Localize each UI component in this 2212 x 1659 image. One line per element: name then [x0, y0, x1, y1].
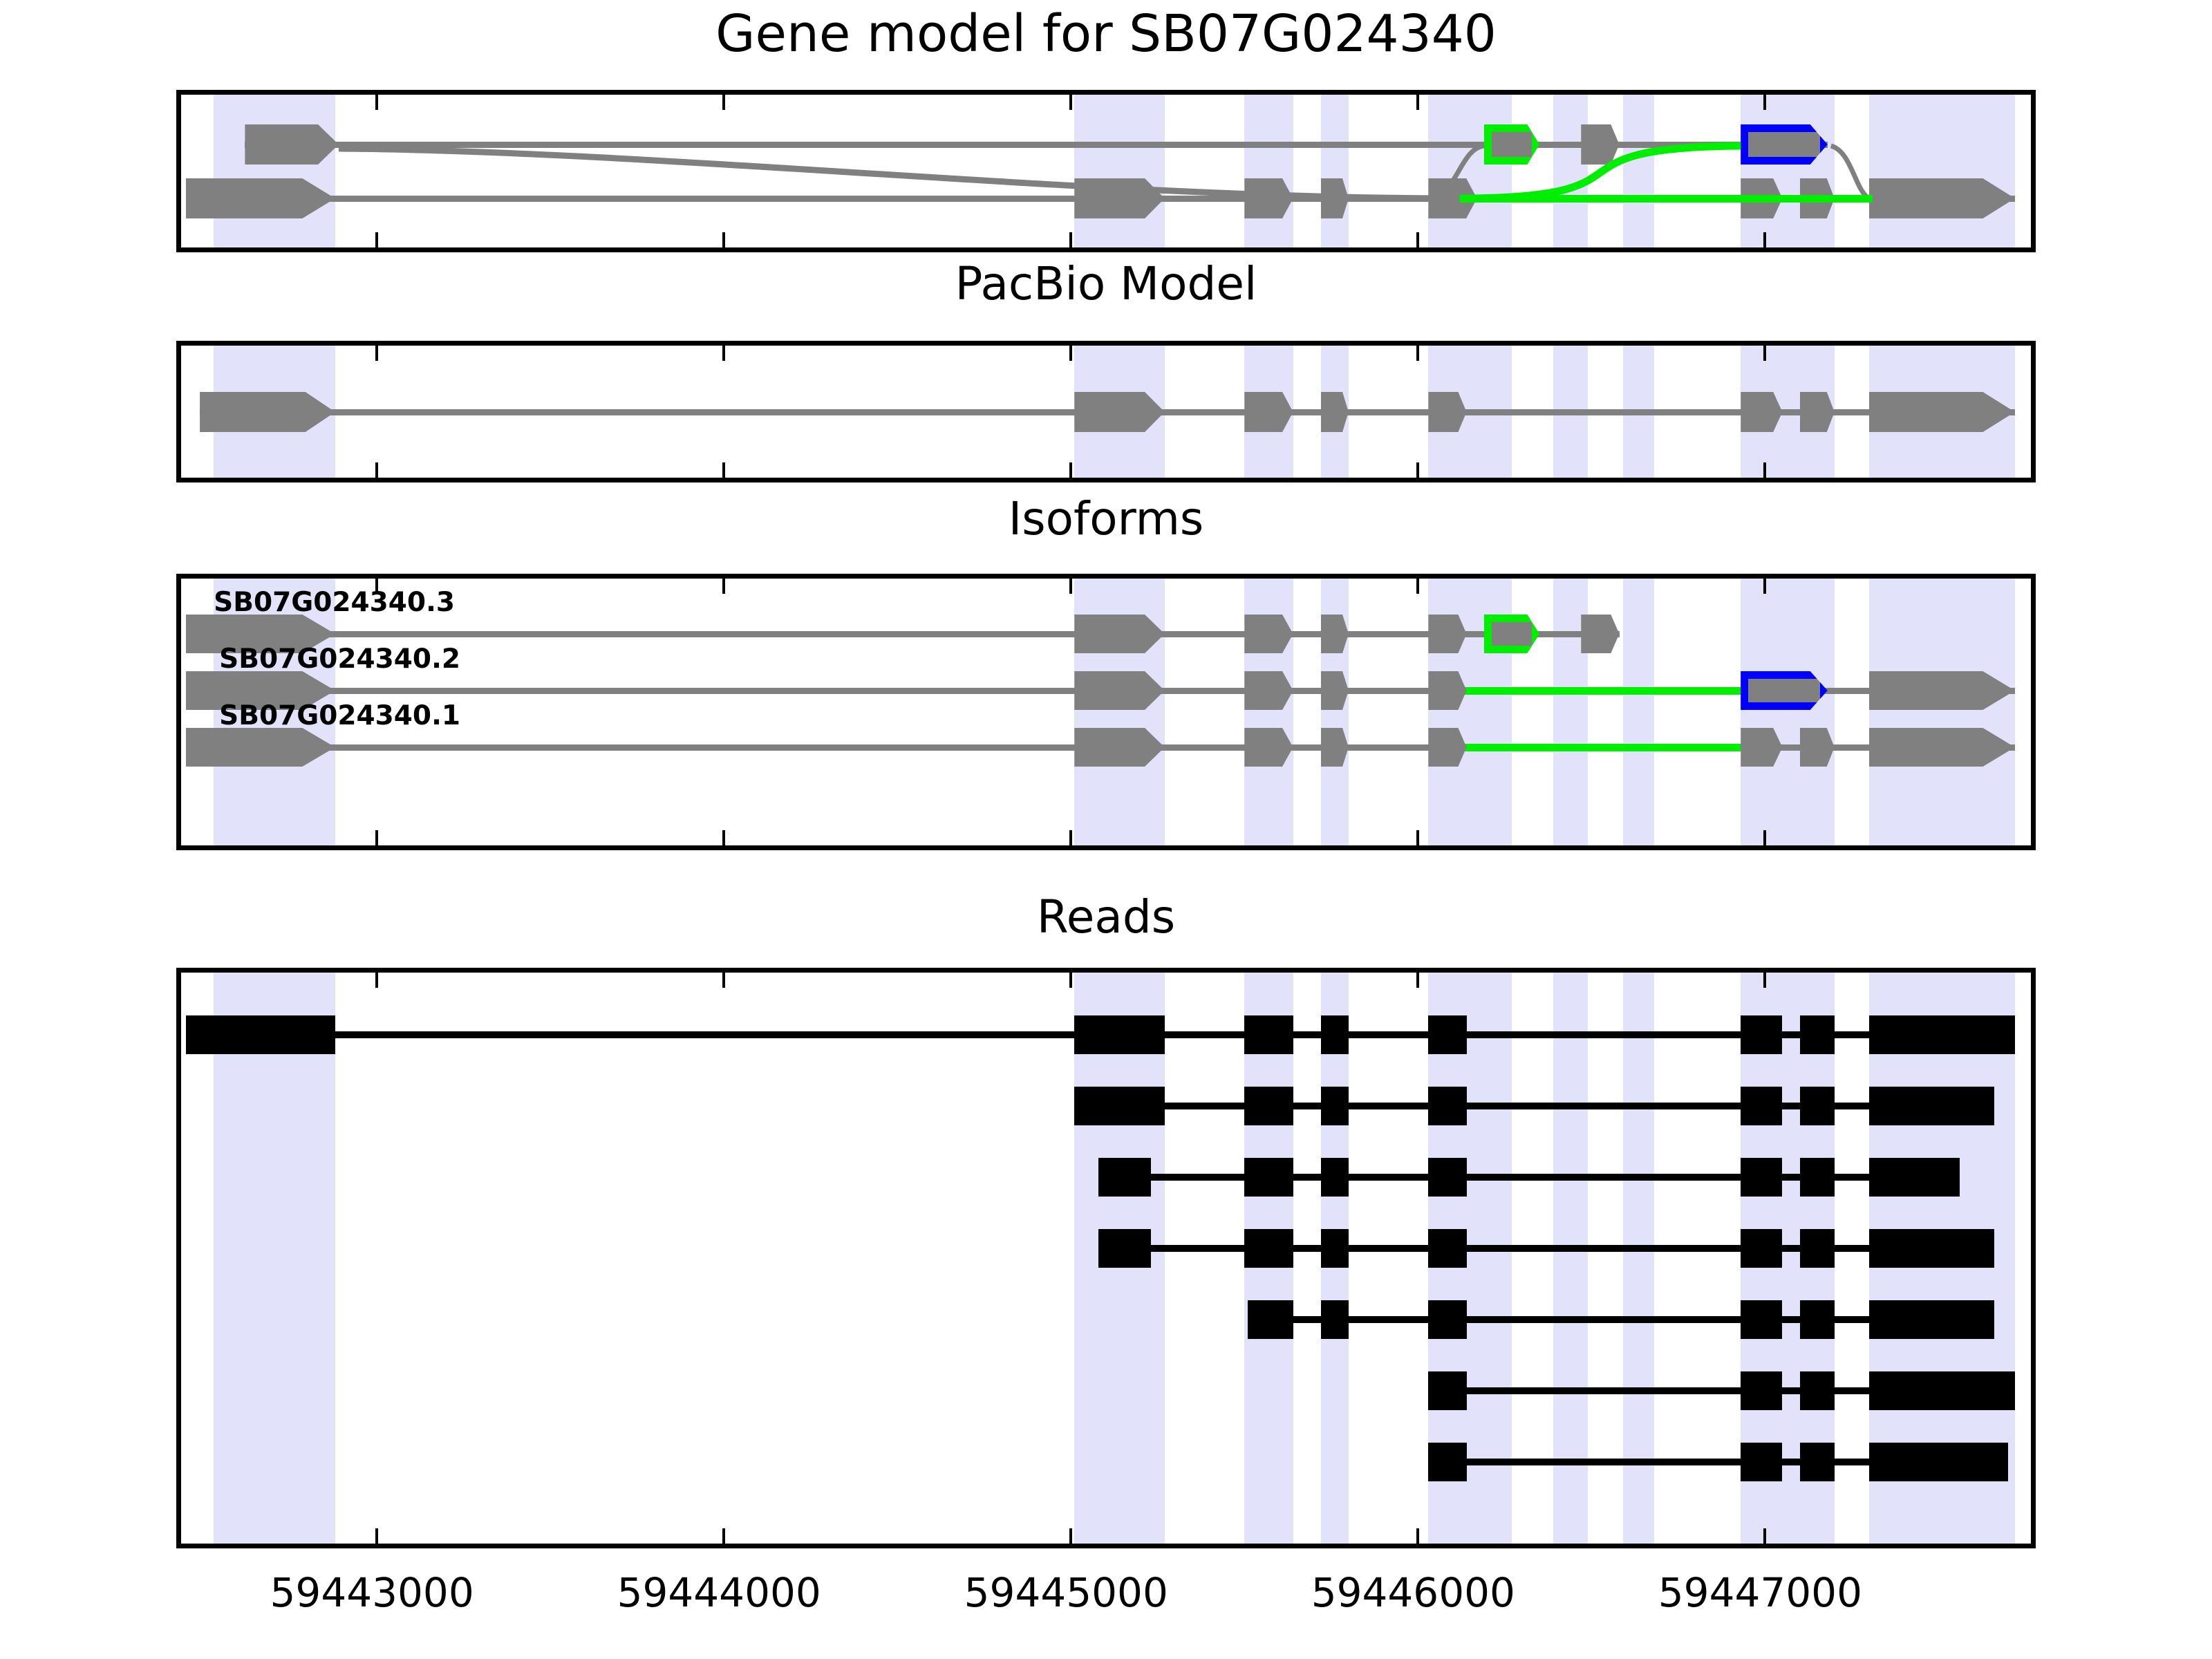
read-block	[1741, 1443, 1782, 1481]
x-tick-label: 59445000	[964, 1569, 1168, 1616]
read-intron	[1074, 1103, 1994, 1109]
axis-tick	[1069, 1528, 1072, 1544]
read-block	[1800, 1015, 1835, 1054]
read-block	[1321, 1300, 1349, 1339]
isoform-label: SB07G024340.2	[219, 644, 460, 675]
read-block	[1869, 1300, 1994, 1339]
read-block	[1428, 1158, 1466, 1197]
read-block	[1321, 1087, 1349, 1125]
read-block	[1244, 1229, 1293, 1268]
axis-tick	[1416, 346, 1419, 361]
highlight-band	[1623, 579, 1654, 845]
axis-tick	[722, 1528, 725, 1544]
read-block	[1428, 1371, 1466, 1410]
axis-tick	[1763, 1528, 1766, 1544]
axis-tick	[1763, 579, 1766, 594]
exon-box	[1581, 615, 1619, 653]
axis-tick	[722, 973, 725, 988]
reads-panel-title: Reads	[0, 890, 2212, 944]
read-block	[1869, 1087, 1994, 1125]
highlight-band	[214, 973, 335, 1544]
read-block	[1800, 1229, 1835, 1268]
read-block	[1428, 1300, 1466, 1339]
highlight-band	[1741, 579, 1835, 845]
read-block	[1248, 1300, 1293, 1339]
axis-tick	[1416, 579, 1419, 594]
axis-tick	[375, 973, 378, 988]
axis-tick	[1763, 973, 1766, 988]
axis-tick	[1416, 462, 1419, 478]
read-block	[1869, 1443, 2008, 1481]
green-intron	[1460, 687, 1745, 695]
read-block	[1098, 1158, 1150, 1197]
read-block	[1800, 1300, 1835, 1339]
read-block	[1428, 1229, 1466, 1268]
read-block	[1869, 1158, 1960, 1197]
read-block	[1869, 1015, 2015, 1054]
green-intron	[1460, 195, 1873, 203]
axis-tick	[1069, 973, 1072, 988]
read-block	[1800, 1087, 1835, 1125]
read-block	[1428, 1015, 1466, 1054]
read-intron	[1098, 1245, 1994, 1252]
read-block	[1428, 1087, 1466, 1125]
reads-axes	[176, 968, 2036, 1548]
read-block	[1800, 1371, 1835, 1410]
read-block	[1741, 1229, 1782, 1268]
axis-tick	[1763, 830, 1766, 845]
read-block	[1321, 1229, 1349, 1268]
read-block	[1741, 1015, 1782, 1054]
read-block	[1741, 1300, 1782, 1339]
axis-tick	[1069, 830, 1072, 845]
x-tick-label: 59447000	[1658, 1569, 1862, 1616]
axis-tick	[1069, 579, 1072, 594]
axis-tick	[1416, 830, 1419, 845]
gene-model-axes	[176, 90, 2036, 252]
read-block	[1428, 1443, 1466, 1481]
green-intron	[1460, 744, 1745, 751]
read-block	[1869, 1371, 2015, 1410]
figure-root: Gene model for SB07G024340 PacBio Model …	[0, 0, 2212, 1659]
axis-tick	[722, 346, 725, 361]
isoform-label: SB07G024340.3	[214, 587, 455, 618]
transcript-connector	[181, 95, 2036, 247]
x-tick-label: 59446000	[1311, 1569, 1515, 1616]
read-block	[1321, 1015, 1349, 1054]
read-block	[1741, 1087, 1782, 1125]
read-block	[1741, 1371, 1782, 1410]
isoforms-panel-title: Isoforms	[0, 492, 2212, 545]
read-block	[1074, 1015, 1165, 1054]
read-block	[1244, 1087, 1293, 1125]
read-block	[1321, 1158, 1349, 1197]
axis-tick	[375, 830, 378, 845]
read-block	[1800, 1443, 1835, 1481]
axis-tick	[722, 830, 725, 845]
axis-tick	[1069, 346, 1072, 361]
highlight-band	[1869, 579, 2015, 845]
read-block	[186, 1015, 335, 1054]
axis-tick	[1416, 1528, 1419, 1544]
read-block	[1098, 1229, 1150, 1268]
read-block	[1074, 1087, 1165, 1125]
axis-tick	[1069, 462, 1072, 478]
axis-tick	[1763, 462, 1766, 478]
axis-tick	[1763, 346, 1766, 361]
x-tick-label: 59443000	[270, 1569, 474, 1616]
pacbio-axes	[176, 341, 2036, 482]
axis-tick	[722, 579, 725, 594]
isoforms-axes: SB07G024340.3SB07G024340.2SB07G024340.1	[176, 574, 2036, 850]
highlighted-exon	[1484, 615, 1539, 653]
intron-line	[186, 631, 1620, 637]
read-block	[1244, 1015, 1293, 1054]
highlighted-exon	[1741, 671, 1828, 710]
axis-tick	[1416, 973, 1419, 988]
figure-title: Gene model for SB07G024340	[0, 4, 2212, 64]
read-block	[1741, 1158, 1782, 1197]
pacbio-panel-title: PacBio Model	[0, 257, 2212, 310]
axis-tick	[375, 462, 378, 478]
axis-tick	[722, 462, 725, 478]
x-tick-label: 59444000	[617, 1569, 821, 1616]
axis-tick	[375, 346, 378, 361]
axis-tick	[375, 1528, 378, 1544]
read-block	[1869, 1229, 1994, 1268]
read-block	[1800, 1158, 1835, 1197]
read-block	[1244, 1158, 1293, 1197]
isoform-label: SB07G024340.1	[219, 700, 460, 731]
